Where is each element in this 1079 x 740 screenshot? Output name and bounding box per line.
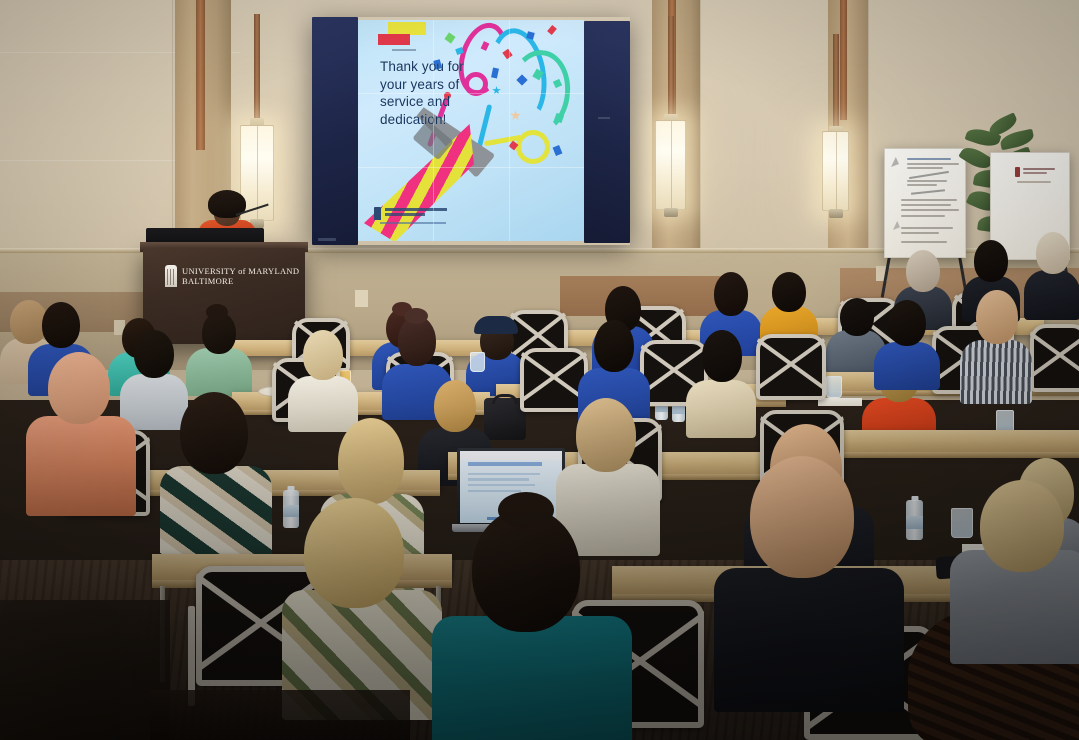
confetti (526, 31, 535, 40)
attendee (282, 498, 442, 708)
attendee-head (906, 250, 940, 292)
attendee-head-bald (750, 456, 854, 578)
headline-line: service and (380, 93, 500, 111)
tile-seam (358, 167, 584, 168)
attendee-torso (714, 568, 904, 712)
attendee (874, 300, 940, 384)
poster-doodle (893, 221, 900, 230)
wall-sconce-right (822, 126, 849, 218)
attendee-torso (186, 348, 252, 396)
chair[interactable] (1030, 324, 1079, 392)
attendee-torso (960, 340, 1032, 404)
screen-indicator (318, 238, 336, 241)
foreground-shadow (150, 690, 410, 740)
foreground-shadow (0, 600, 170, 740)
tile-seam (433, 20, 434, 241)
attendee (686, 330, 756, 434)
video-wall[interactable]: Thank you for your years of service and … (312, 17, 630, 245)
headline-line: Thank you for (380, 58, 500, 76)
lectern-sign: UNIVERSITY of MARYLAND BALTIMORE (165, 265, 293, 291)
handbag-strap (492, 394, 518, 404)
attendee-torso (26, 416, 136, 516)
chair[interactable] (756, 334, 826, 400)
poster-doodle (891, 157, 899, 167)
attendee (288, 330, 358, 428)
slide-footer-logo (374, 206, 460, 228)
wall-seam (0, 160, 180, 161)
wall-accent-strip (840, 0, 847, 120)
poster-logo-icon (1015, 167, 1020, 177)
tile-seam (509, 20, 510, 241)
wall-accent-strip (196, 0, 205, 150)
conference-room-photo: Thank you for your years of service and … (0, 0, 1079, 740)
wall-seam (700, 0, 701, 270)
attendee-torso (1024, 270, 1079, 320)
attendee-head (976, 290, 1018, 344)
slide-accent-swatches (374, 22, 438, 48)
attendee (1024, 232, 1079, 316)
confetti (547, 25, 557, 35)
logo-line (385, 213, 425, 216)
attendee (714, 456, 904, 706)
attendee-head (576, 398, 636, 472)
logo-tagline (380, 222, 446, 224)
headline-line: your years of (380, 76, 500, 94)
attendee-head (303, 330, 343, 380)
tile-seam (358, 93, 584, 94)
red-block (378, 34, 410, 45)
presentation-slide: Thank you for your years of service and … (358, 20, 584, 241)
easel-poster-left (884, 148, 966, 260)
attendee-head (304, 498, 404, 608)
umb-column-icon (165, 265, 177, 287)
umb-column-icon (374, 207, 381, 220)
lectern-sign-line2: BALTIMORE (182, 276, 234, 286)
attendee (26, 352, 136, 512)
confetti (553, 145, 563, 156)
logo-line (385, 208, 447, 211)
wall-sconce-center (655, 114, 686, 218)
water-bottle (906, 496, 923, 540)
attendee (432, 508, 632, 740)
attendee-head (888, 300, 926, 346)
attendee-head (1036, 232, 1070, 274)
headline-line: dedication! (380, 111, 500, 129)
screen-bezel-left (312, 17, 358, 245)
attendee-head (180, 392, 248, 474)
attendee (950, 480, 1079, 660)
attendee-torso (432, 616, 632, 740)
attendee-head (434, 380, 476, 432)
attendee-head (772, 272, 806, 312)
wall-outlet (355, 290, 368, 307)
attendee-head (134, 330, 174, 378)
wall-seam (868, 0, 869, 250)
attendee-head-bald (48, 352, 110, 424)
slide-rule (392, 49, 416, 51)
attendee-head (974, 240, 1008, 282)
attendee (160, 392, 272, 562)
attendee-head (42, 302, 80, 348)
drinking-glass (470, 352, 485, 372)
attendee-hair-bun (206, 304, 228, 320)
attendee (186, 312, 252, 392)
lectern-sign-line1: UNIVERSITY of MARYLAND (182, 266, 299, 276)
attendee (960, 290, 1032, 400)
attendee-head (702, 330, 742, 382)
attendee-head (840, 298, 874, 336)
attendee-hair-bun (404, 308, 428, 324)
drinking-glass (826, 376, 842, 398)
baseball-cap (474, 316, 518, 334)
screen-bezel-right (584, 21, 630, 243)
attendee-head (980, 480, 1064, 572)
attendee-head (714, 272, 748, 316)
attendee-head (594, 320, 634, 372)
screen-indicator (598, 117, 610, 119)
attendee-hair-bun (498, 492, 554, 528)
attendee-torso (874, 342, 940, 390)
attendee-head (338, 418, 404, 504)
confetti (444, 32, 455, 43)
